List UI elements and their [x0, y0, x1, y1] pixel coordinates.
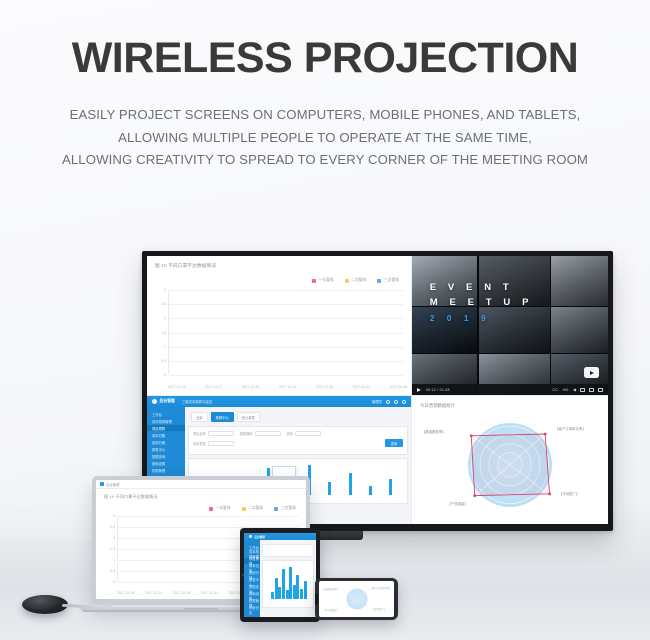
y-axis-tick: 1.5: [110, 547, 115, 551]
sidebar-item-label: 费用分摊: [152, 440, 165, 445]
dashboard-bar[interactable]: [278, 587, 281, 599]
dashboard-tab[interactable]: 核算中心: [211, 412, 234, 422]
gridline: [169, 375, 403, 376]
x-axis-tick: 2017-12-21: [205, 385, 222, 389]
bar-chart-panel: 图 10 不同口罩不达数据情况 一年整体 二次整体 三次整体: [147, 256, 411, 395]
hero-section: WIRELESS PROJECTION EASILY PROJECT SCREE…: [0, 0, 650, 172]
y-axis: 32.521.510.50: [155, 290, 168, 375]
legend-label: 一年整体: [215, 506, 230, 511]
dashboard-bar[interactable]: [282, 569, 285, 599]
app-logo-icon: [100, 482, 104, 486]
tablet-display: 后台管理 工作台成本核算管理项目预算成本归集费用分摊报表中心数据查询基础设置权限…: [240, 528, 320, 622]
sidebar-item[interactable]: 成本归集: [147, 432, 185, 438]
x-axis-tick: 2017-12-21: [145, 591, 162, 595]
x-axis-tick: 2017-12-16: [117, 591, 134, 595]
video-player[interactable]: E V E N T M E E T U P 2 0 1 9 00:12 / 01…: [412, 256, 608, 395]
chart-legend: 一年整体 二次整体 三次整体: [312, 278, 399, 283]
radar-chart-panel: 今日营销数据统计: [412, 396, 608, 524]
dashboard-bar[interactable]: [349, 473, 352, 496]
phone-screen: 【客户订单转化率】 【市场推广】 【产品销量】 【渠道覆盖率】: [319, 581, 394, 617]
video-mosaic: [412, 256, 608, 395]
page-subtitle: EASILY PROJECT SCREENS ON COMPUTERS, MOB…: [0, 104, 650, 172]
y-axis-tick: 0: [113, 580, 115, 584]
video-controls-right: CC HD ◀: [552, 387, 603, 392]
chart-title: 图 10 不同口罩不达数据情况: [104, 494, 298, 500]
sidebar-item-label: 权限管理: [152, 468, 165, 473]
dashboard-bar[interactable]: [271, 592, 274, 599]
filter-field[interactable]: 项目名称: [193, 431, 234, 436]
filter-input[interactable]: [208, 431, 234, 436]
dashboard-sidebar: 工作台成本核算管理项目预算成本归集费用分摊报表中心数据查询基础设置权限管理系统日…: [244, 540, 260, 617]
video-title-line-1: E V E N T: [430, 280, 533, 296]
y-axis-tick: 1: [113, 558, 115, 562]
dashboard-brand: 后台管理: [160, 399, 175, 404]
sidebar-item-label: 系统日志: [249, 605, 260, 615]
radar-axis-label-2: 【产品销量】: [447, 501, 467, 506]
dashboard-logo-icon: [152, 399, 157, 404]
x-axis-tick: 2017-03-02: [353, 385, 370, 389]
app-bar-title: 后台管理: [106, 482, 120, 487]
dashboard-bar-chart: [262, 560, 314, 608]
dashboard-body: 工作台成本核算管理项目预算成本归集费用分摊报表中心数据查询基础设置权限管理系统日…: [244, 540, 316, 617]
tv-panel-bar-chart: 图 10 不同口罩不达数据情况 一年整体 二次整体 三次整体: [147, 256, 412, 395]
chart-plot-area: 32.521.510.50: [155, 290, 403, 375]
sidebar-item[interactable]: 报表中心: [147, 446, 185, 452]
dashboard-bar[interactable]: [296, 575, 299, 599]
legend-label: 二次整体: [351, 278, 366, 283]
legend-item-series-2[interactable]: 二次整体: [345, 278, 367, 283]
dashboard-bar[interactable]: [328, 482, 331, 495]
dashboard-bars: [271, 567, 307, 599]
tv-panel-radar: 今日营销数据统计: [412, 395, 608, 524]
subtitle-line-2: ALLOWING MULTIPLE PEOPLE TO OPERATE AT T…: [0, 127, 650, 150]
sidebar-item[interactable]: 成本核算管理: [147, 418, 185, 424]
dashboard-bar[interactable]: [389, 479, 392, 496]
legend-item-series-2[interactable]: 二次整体: [242, 506, 264, 511]
dashboard-header-actions: 管理员: [372, 399, 406, 404]
phone-radar-label-1: 【市场推广】: [372, 607, 386, 611]
sidebar-item-label: 成本归集: [152, 433, 165, 438]
x-axis-tick: 2017-12-26: [242, 385, 259, 389]
legend-item-series-1[interactable]: 一年整体: [312, 278, 334, 283]
sidebar-item-label: 工作台: [152, 412, 162, 417]
x-axis-ticks: 2017-12-162017-12-212017-12-262017-12-31…: [168, 385, 407, 389]
legend-swatch-icon: [209, 507, 213, 511]
video-title-overlay: E V E N T M E E T U P 2 0 1 9: [430, 280, 533, 323]
tablet-admin-dashboard: 后台管理 工作台成本核算管理项目预算成本归集费用分摊报表中心数据查询基础设置权限…: [244, 533, 316, 617]
legend-swatch-icon: [274, 507, 278, 511]
y-axis-tick: 3: [164, 288, 166, 292]
radar-title: 今日营销数据统计: [420, 403, 600, 409]
dashboard-tabs: 全部核算中心统计报表: [188, 410, 408, 424]
legend-swatch-icon: [345, 279, 349, 283]
y-axis-tick: 0.5: [161, 359, 166, 363]
legend-item-series-3[interactable]: 三次整体: [377, 278, 399, 283]
wireless-transmitter-dongle: [22, 595, 72, 617]
filter-row-2: 成本类型 查询: [193, 439, 403, 447]
tablet-screen: 后台管理 工作台成本核算管理项目预算成本归集费用分摊报表中心数据查询基础设置权限…: [244, 533, 316, 617]
filter-field[interactable]: 成本类型: [193, 439, 234, 447]
sidebar-item-label: 基础设置: [152, 461, 165, 466]
dashboard-bar[interactable]: [275, 578, 278, 599]
chart-legend: 一年整体 二次整体 三次整体: [209, 506, 296, 511]
subtitle-line-1: EASILY PROJECT SCREENS ON COMPUTERS, MOB…: [0, 104, 650, 127]
tablet-home-button[interactable]: [242, 574, 245, 577]
video-tile: [551, 256, 608, 306]
chart-bars: [168, 290, 403, 375]
legend-label: 三次整体: [384, 278, 399, 283]
filter-label: 项目名称: [193, 431, 206, 436]
sidebar-item[interactable]: 项目预算: [147, 425, 185, 431]
sidebar-item-label: 数据查询: [152, 454, 165, 459]
sidebar-item[interactable]: 系统日志: [244, 607, 260, 613]
dashboard-tab[interactable]: 统计报表: [237, 412, 260, 422]
dashboard-header: 后台管理: [244, 533, 316, 540]
legend-item-series-1[interactable]: 一年整体: [209, 506, 231, 511]
chart-title: 图 10 不同口罩不达数据情况: [155, 263, 403, 269]
sidebar-item[interactable]: 数据查询: [147, 453, 185, 459]
legend-label: 一年整体: [319, 278, 334, 283]
tv-panel-video: E V E N T M E E T U P 2 0 1 9 00:12 / 01…: [412, 256, 608, 395]
y-axis-tick: 2: [164, 316, 166, 320]
phone-radar-label-0: 【客户订单转化率】: [370, 586, 392, 590]
radar-axis-label-0: 【客户订单转化率】: [555, 426, 586, 431]
dashboard-bar[interactable]: [369, 486, 372, 496]
video-title-year: 2 0 1 9: [430, 313, 533, 323]
video-brand-logo-icon: [584, 367, 599, 378]
sidebar-item-label: 项目预算: [152, 426, 165, 431]
settings-icon[interactable]: [580, 388, 585, 392]
filter-input[interactable]: [295, 431, 321, 436]
legend-label: 二次整体: [248, 506, 263, 511]
y-axis-tick: 1: [164, 345, 166, 349]
sidebar-item-label: 成本核算管理: [152, 419, 172, 424]
x-axis-tick: 2017-03-08: [390, 385, 407, 389]
sidebar-item[interactable]: 费用分摊: [147, 439, 185, 445]
legend-label: 三次整体: [281, 506, 296, 511]
dongle-connector-tip: [102, 603, 111, 609]
video-control-bar[interactable]: 00:12 / 01:38 CC HD ◀: [412, 384, 608, 395]
play-icon[interactable]: [417, 388, 421, 392]
x-axis-tick: 2017-12-26: [173, 591, 190, 595]
y-axis-tick: 1.5: [161, 331, 166, 335]
x-axis-tick: 2017-02-05: [316, 385, 333, 389]
y-axis-tick: 3: [113, 514, 115, 518]
y-axis: 32.521.510.50: [104, 516, 117, 582]
search-button[interactable]: 查询: [385, 439, 403, 447]
y-axis-tick: 0: [164, 373, 166, 377]
dashboard-main: [260, 540, 316, 617]
filter-input[interactable]: [255, 431, 281, 436]
sidebar-item[interactable]: 权限管理: [147, 467, 185, 473]
sidebar-item[interactable]: 基础设置: [147, 460, 185, 466]
filter-card: 项目名称 核算期间 状态: [188, 426, 408, 455]
dashboard-bar[interactable]: [289, 567, 292, 599]
quality-icon[interactable]: HD: [563, 387, 569, 392]
laptop-app-bar: 后台管理: [96, 480, 306, 489]
video-timecode: 00:12 / 01:38: [426, 388, 450, 392]
breadcrumb: 三维成本核算与监控: [182, 399, 213, 404]
radar-plot-area: 【客户订单转化率】 【市场推广】 【产品销量】 【渠道覆盖率】: [412, 412, 608, 518]
filter-card: [262, 544, 314, 557]
x-axis-tick: 2017-12-16: [168, 385, 185, 389]
laptop-hinge-notch: [184, 608, 218, 610]
subtitle-line-3: ALLOWING CREATIVITY TO SPREAD TO EVERY C…: [0, 149, 650, 172]
legend-swatch-icon: [377, 279, 381, 283]
logout-icon[interactable]: [402, 400, 406, 404]
filter-field[interactable]: 状态: [287, 431, 321, 436]
filter-row-1: 项目名称 核算期间 状态: [193, 431, 403, 436]
smartphone-display: 【客户订单转化率】 【市场推广】 【产品销量】 【渠道覆盖率】: [315, 578, 398, 620]
fullscreen-icon[interactable]: [598, 388, 603, 392]
dashboard-header: 后台管理 三维成本核算与监控 管理员: [147, 396, 411, 407]
pip-icon[interactable]: [589, 388, 594, 392]
filter-label: 成本类型: [193, 441, 206, 446]
sidebar-item-label: 报表中心: [152, 447, 165, 452]
y-axis-tick: 2.5: [110, 525, 115, 529]
dashboard-bar[interactable]: [286, 590, 289, 599]
video-tile: [551, 307, 608, 352]
phone-radar-label-3: 【渠道覆盖率】: [322, 587, 339, 591]
video-title-line-2: M E E T U P: [430, 295, 533, 311]
radar-axis-label-3: 【渠道覆盖率】: [422, 429, 446, 434]
user-name[interactable]: 管理员: [372, 399, 382, 404]
radar-axis-label-1: 【市场推广】: [559, 491, 579, 496]
filter-label: 状态: [287, 431, 293, 436]
legend-swatch-icon: [242, 507, 246, 511]
sidebar-item[interactable]: 工作台: [147, 411, 185, 417]
y-axis-tick: 2.5: [161, 302, 166, 306]
page-title: WIRELESS PROJECTION: [0, 37, 650, 80]
dashboard-bar[interactable]: [300, 589, 303, 599]
dashboard-logo-icon: [249, 535, 252, 538]
bell-icon[interactable]: [386, 400, 390, 404]
volume-icon[interactable]: ◀: [573, 387, 576, 392]
x-axis-tick: 2017-12-31: [201, 591, 218, 595]
captions-icon[interactable]: CC: [552, 387, 558, 392]
filter-input[interactable]: [208, 441, 234, 446]
legend-item-series-3[interactable]: 三次整体: [274, 506, 296, 511]
x-axis-tick: 2017-12-31: [279, 385, 296, 389]
dashboard-bar[interactable]: [304, 581, 307, 599]
dashboard-tab[interactable]: 全部: [191, 412, 208, 422]
gear-icon[interactable]: [394, 400, 398, 404]
phone-notch: [315, 594, 318, 605]
phone-radar-label-2: 【产品销量】: [324, 608, 338, 612]
dashboard-brand: 后台管理: [255, 535, 265, 539]
y-axis-tick: 0.5: [110, 569, 115, 573]
filter-field[interactable]: 核算期间: [240, 431, 281, 436]
filter-label: 核算期间: [240, 431, 253, 436]
y-axis-tick: 2: [113, 536, 115, 540]
dashboard-bar[interactable]: [293, 585, 296, 599]
legend-swatch-icon: [312, 279, 316, 283]
